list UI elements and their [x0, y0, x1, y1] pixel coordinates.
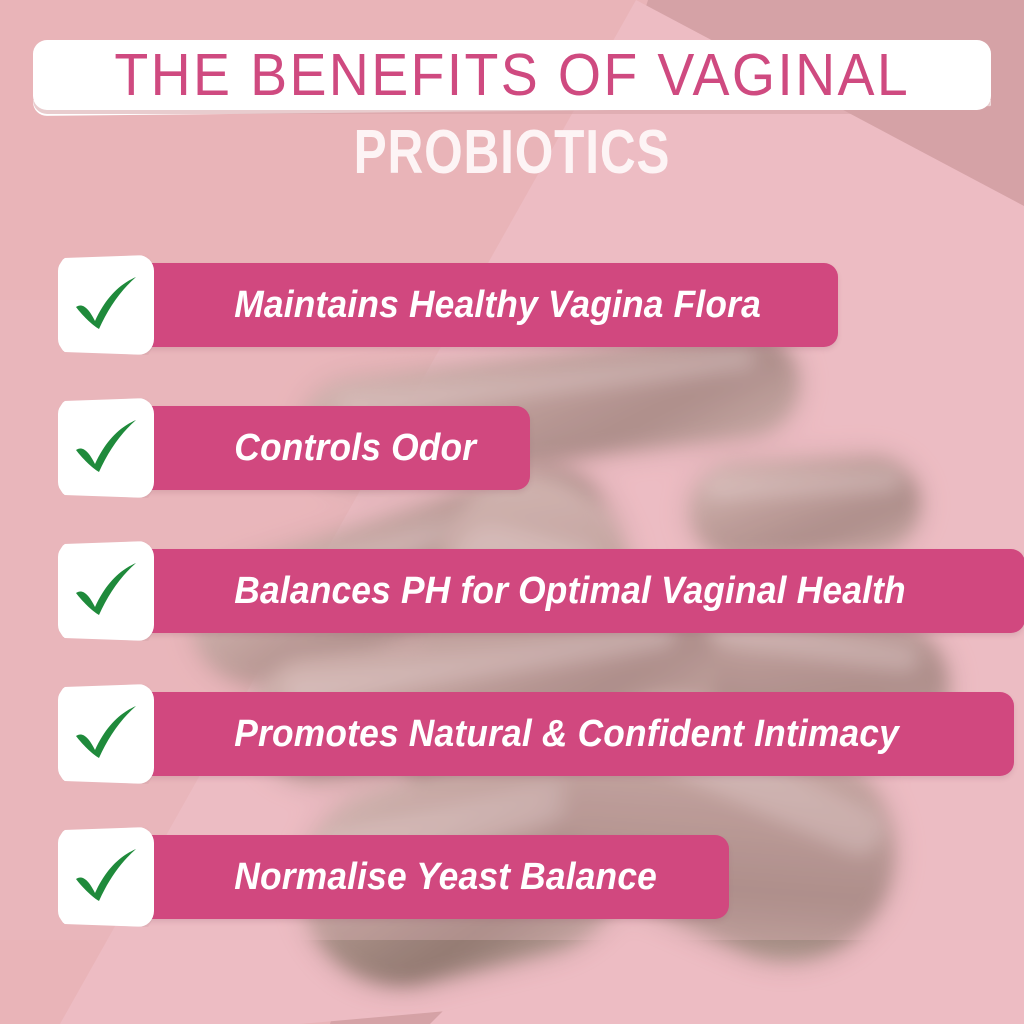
benefit-label: Controls Odor — [132, 429, 500, 467]
benefit-bar: Promotes Natural & Confident Intimacy — [132, 692, 1014, 776]
benefit-bar: Normalise Yeast Balance — [132, 835, 729, 919]
benefit-bar: Balances PH for Optimal Vaginal Health — [132, 549, 1024, 633]
checkbox-0[interactable] — [58, 255, 154, 355]
checkbox-2[interactable] — [58, 541, 154, 641]
list-item: Controls Odor — [58, 398, 478, 498]
check-icon — [68, 410, 144, 486]
benefit-label: Normalise Yeast Balance — [132, 858, 681, 896]
checkbox-1[interactable] — [58, 398, 154, 498]
list-item: Maintains Healthy Vagina Flora — [58, 255, 838, 355]
benefit-bar: Controls Odor — [132, 406, 530, 490]
list-item: Promotes Natural & Confident Intimacy — [58, 684, 958, 784]
benefit-label: Balances PH for Optimal Vaginal Health — [132, 572, 930, 610]
check-icon — [68, 553, 144, 629]
infographic-poster: THE BENEFITS OF VAGINAL PROBIOTICS Maint… — [0, 0, 1024, 1024]
benefit-bar: Maintains Healthy Vagina Flora — [132, 263, 838, 347]
benefits-list: Maintains Healthy Vagina Flora Controls … — [0, 0, 1024, 1024]
benefit-label: Maintains Healthy Vagina Flora — [132, 286, 785, 324]
benefit-label: Promotes Natural & Confident Intimacy — [132, 715, 923, 753]
check-icon — [68, 839, 144, 915]
check-icon — [68, 267, 144, 343]
checkbox-3[interactable] — [58, 684, 154, 784]
list-item: Balances PH for Optimal Vaginal Health — [58, 541, 968, 641]
check-icon — [68, 696, 144, 772]
list-item: Normalise Yeast Balance — [58, 827, 673, 927]
checkbox-4[interactable] — [58, 827, 154, 927]
